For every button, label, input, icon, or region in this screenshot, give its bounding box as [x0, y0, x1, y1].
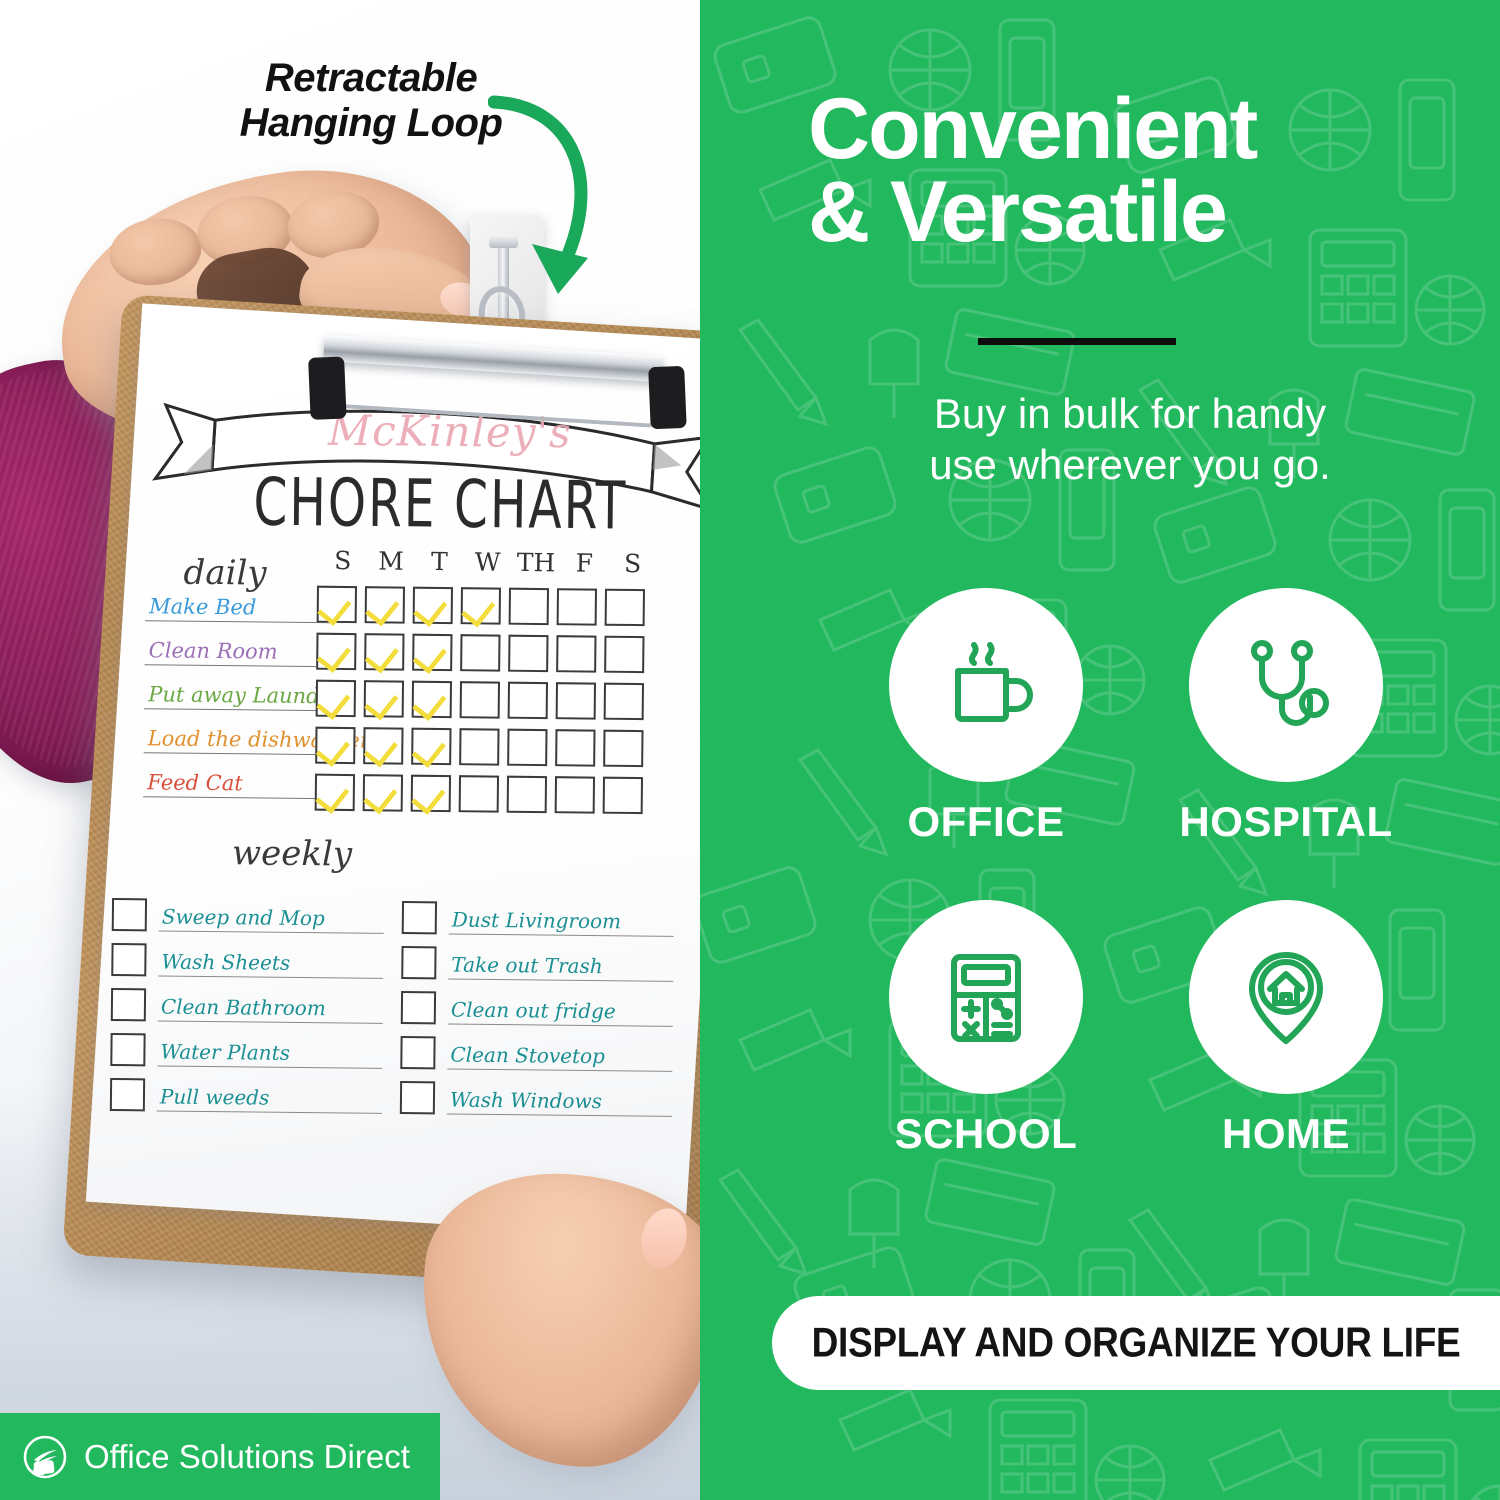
icon-label: HOME [1222, 1110, 1350, 1158]
weekly-task-label: Clean out fridge [448, 998, 673, 1027]
clipboard-circle-logo [22, 1434, 68, 1480]
subhead-line-1: Buy in bulk for handy [820, 388, 1440, 439]
day-header: T [419, 547, 459, 576]
day-header: M [371, 546, 411, 575]
empty-box[interactable] [460, 634, 500, 671]
weekly-task-row: Dust Livingroom [402, 889, 674, 937]
weekly-task-row: Wash Windows [400, 1069, 672, 1117]
empty-box[interactable] [460, 681, 500, 718]
daily-task-row: Load the dishwasher [144, 709, 334, 755]
weekly-checkbox[interactable] [111, 988, 146, 1021]
checked-box[interactable] [315, 727, 355, 764]
checked-box[interactable] [365, 586, 405, 623]
day-header: W [468, 547, 508, 576]
weekly-checkbox[interactable] [110, 1033, 145, 1066]
checked-box[interactable] [411, 728, 451, 765]
icon-label: SCHOOL [895, 1110, 1078, 1158]
daily-check-row [316, 680, 644, 720]
day-header: F [564, 548, 604, 577]
calculator-icon [930, 941, 1042, 1053]
weekly-checkbox[interactable] [112, 898, 147, 931]
weekly-task-row: Pull weeds [110, 1066, 382, 1114]
icon-label: OFFICE [908, 798, 1065, 846]
weekly-section-label: weekly [232, 833, 352, 874]
product-infographic: Retractable Hanging Loop McKinley's [0, 0, 1500, 1500]
empty-box[interactable] [459, 775, 499, 812]
chart-title: CHORE CHART [240, 463, 641, 544]
use-case-home[interactable]: HOME [1136, 900, 1436, 1158]
checked-box[interactable] [413, 587, 453, 624]
weekly-task-label: Dust Livingroom [449, 908, 674, 937]
checked-box[interactable] [363, 727, 403, 764]
daily-task-row: Clean Room [145, 621, 335, 667]
use-case-hospital[interactable]: HOSPITAL [1136, 588, 1436, 846]
weekly-column-right: Dust LivingroomTake out TrashClean out f… [400, 889, 674, 1117]
day-header: S [613, 549, 653, 578]
daily-check-grid [315, 586, 645, 824]
checked-box[interactable] [411, 775, 451, 812]
daily-task-row: Put away Laundry [144, 665, 334, 711]
day-header-row: SMTWTHFS [323, 546, 653, 578]
brand-footer: Office Solutions Direct [0, 1413, 440, 1500]
weekly-task-row: Take out Trash [401, 934, 673, 982]
weekly-task-label: Wash Sheets [158, 949, 383, 978]
empty-box[interactable] [605, 589, 645, 626]
weekly-task-row: Water Plants [110, 1021, 382, 1069]
headline-line-1: Convenient [808, 88, 1448, 171]
empty-box[interactable] [555, 729, 595, 766]
weekly-task-row: Wash Sheets [111, 931, 383, 979]
callout-arrow-icon [488, 62, 618, 332]
weekly-task-row: Clean out fridge [401, 979, 673, 1027]
checked-box[interactable] [461, 587, 501, 624]
weekly-checkbox[interactable] [401, 946, 436, 979]
empty-box[interactable] [603, 777, 643, 814]
daily-check-row [316, 633, 644, 673]
daily-task-row: Feed Cat [143, 753, 333, 799]
product-photo-area: Retractable Hanging Loop McKinley's [0, 0, 760, 1500]
icon-label: HOSPITAL [1179, 798, 1392, 846]
weekly-task-label: Clean Bathroom [158, 994, 383, 1023]
panel-subheadline: Buy in bulk for handy use wherever you g… [820, 388, 1440, 490]
home-pin-icon [1230, 941, 1342, 1053]
icon-circle [889, 900, 1083, 1094]
daily-task-label: Feed Cat [143, 770, 333, 799]
empty-box[interactable] [556, 635, 596, 672]
checked-box[interactable] [317, 586, 357, 623]
stethoscope-icon [1230, 629, 1342, 741]
weekly-checkbox[interactable] [400, 1081, 435, 1114]
checked-box[interactable] [364, 633, 404, 670]
clip-grip-left [308, 356, 347, 419]
daily-check-row [317, 586, 645, 626]
day-header: S [323, 546, 363, 575]
weekly-task-label: Water Plants [157, 1039, 382, 1068]
daily-task-label: Put away Laundry [144, 682, 342, 711]
weekly-checkbox[interactable] [402, 901, 437, 934]
weekly-task-lists: Sweep and MopWash SheetsClean BathroomWa… [110, 886, 692, 1117]
use-case-school[interactable]: SCHOOL [836, 900, 1136, 1158]
subhead-line-2: use wherever you go. [820, 439, 1440, 490]
icon-circle [1189, 900, 1383, 1094]
weekly-task-row: Clean Bathroom [111, 976, 383, 1024]
daily-check-row [315, 727, 643, 767]
empty-box[interactable] [555, 776, 595, 813]
weekly-task-label: Clean Stovetop [447, 1043, 672, 1072]
empty-box[interactable] [557, 588, 597, 625]
checked-box[interactable] [316, 680, 356, 717]
weekly-task-label: Pull weeds [157, 1084, 382, 1113]
weekly-task-label: Wash Windows [447, 1088, 672, 1117]
empty-box[interactable] [509, 588, 549, 625]
icon-circle [1189, 588, 1383, 782]
weekly-checkbox[interactable] [110, 1078, 145, 1111]
icon-circle [889, 588, 1083, 782]
day-header: TH [516, 548, 556, 577]
weekly-checkbox[interactable] [400, 1036, 435, 1069]
brand-name: Office Solutions Direct [84, 1438, 410, 1476]
banner-text: DISPLAY AND ORGANIZE YOUR LIFE [812, 1319, 1461, 1366]
daily-task-list: Make BedClean RoomPut away LaundryLoad t… [143, 577, 335, 799]
empty-box[interactable] [604, 636, 644, 673]
use-case-icon-grid: OFFICE HOSPITAL [836, 588, 1436, 1158]
weekly-task-row: Sweep and Mop [112, 886, 384, 934]
daily-task-label: Load the dishwasher [144, 726, 342, 755]
weekly-task-label: Take out Trash [448, 953, 673, 982]
daily-check-row [315, 774, 643, 814]
clipboard: McKinley's CHORE CHART daily SMTWTHFS Ma… [48, 279, 799, 1310]
empty-box[interactable] [603, 730, 643, 767]
coffee-mug-icon [930, 629, 1042, 741]
empty-box[interactable] [508, 635, 548, 672]
empty-box[interactable] [507, 776, 547, 813]
clip-grip-right [648, 366, 687, 429]
checked-box[interactable] [412, 681, 452, 718]
weekly-task-label: Sweep and Mop [159, 904, 384, 933]
weekly-checkbox[interactable] [401, 991, 436, 1024]
weekly-task-row: Clean Stovetop [400, 1024, 672, 1072]
weekly-checkbox[interactable] [111, 943, 146, 976]
empty-box[interactable] [604, 683, 644, 720]
headline-divider [978, 338, 1176, 345]
panel-headline: Convenient & Versatile [808, 88, 1448, 255]
checked-box[interactable] [316, 633, 356, 670]
use-case-office[interactable]: OFFICE [836, 588, 1136, 846]
daily-task-row: Make Bed [145, 577, 335, 623]
empty-box[interactable] [508, 682, 548, 719]
empty-box[interactable] [507, 729, 547, 766]
checked-box[interactable] [363, 774, 403, 811]
bottom-banner: DISPLAY AND ORGANIZE YOUR LIFE [772, 1296, 1500, 1390]
weekly-column-left: Sweep and MopWash SheetsClean BathroomWa… [110, 886, 384, 1114]
checked-box[interactable] [364, 680, 404, 717]
daily-task-label: Make Bed [145, 594, 335, 623]
empty-box[interactable] [556, 682, 596, 719]
empty-box[interactable] [459, 728, 499, 765]
chart-content: McKinley's CHORE CHART daily SMTWTHFS Ma… [86, 303, 741, 1239]
checked-box[interactable] [412, 634, 452, 671]
checked-box[interactable] [315, 774, 355, 811]
daily-task-label: Clean Room [145, 638, 335, 667]
headline-line-2: & Versatile [808, 171, 1448, 254]
